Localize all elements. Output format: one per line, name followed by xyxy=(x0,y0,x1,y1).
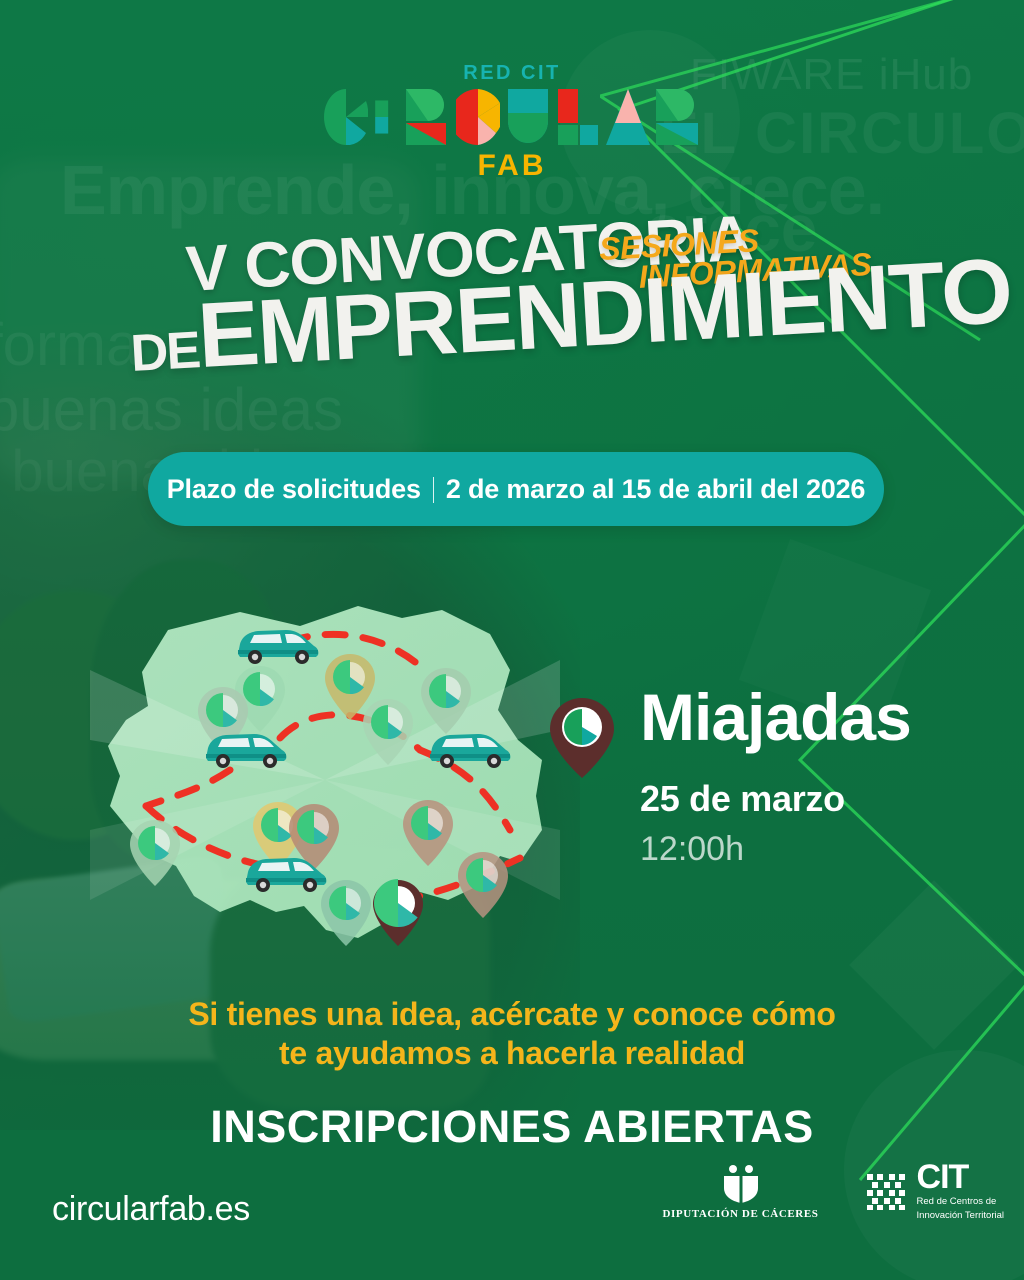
logo-red-cit: RED CIT xyxy=(312,62,712,85)
logo-letter-a xyxy=(606,89,650,145)
cta-highlight: INSCRIPCIONES ABIERTAS xyxy=(0,1101,1024,1153)
logo-letter-c-2 xyxy=(456,89,500,145)
map-car-icon xyxy=(238,852,330,894)
location-pin-icon xyxy=(548,696,616,780)
map-illustration xyxy=(90,600,560,960)
event-date: 25 de marzo xyxy=(640,778,845,820)
footer-logos: DIPUTACIÓN DE CÁCERES CIT Red de Centros… xyxy=(662,1162,1004,1221)
deadline-separator xyxy=(433,477,434,503)
diputacion-logo: DIPUTACIÓN DE CÁCERES xyxy=(662,1164,818,1220)
logo-letter-r xyxy=(406,89,450,145)
cit-text: CIT Red de Centros de Innovación Territo… xyxy=(917,1162,1004,1221)
logo-fab: FAB xyxy=(312,149,712,183)
map-pin xyxy=(127,818,183,888)
event-time: 12:00h xyxy=(640,830,744,869)
headline-de: DE xyxy=(129,321,200,383)
logo-wordmark-circular xyxy=(312,87,712,145)
cit-network-icon xyxy=(865,1172,909,1212)
map-pin xyxy=(360,697,416,767)
logo-letter-i xyxy=(374,89,400,145)
cta-line-1: Si tienes una idea, acércate y conoce có… xyxy=(0,995,1024,1034)
brand-logo: RED CIT xyxy=(312,62,712,183)
map-pin xyxy=(455,850,511,920)
event-city: Miajadas xyxy=(640,684,911,750)
cit-subtitle-2: Innovación Territorial xyxy=(917,1210,1004,1221)
diputacion-shield-icon xyxy=(718,1164,764,1204)
logo-letter-r-2 xyxy=(656,89,700,145)
map-car-icon xyxy=(230,624,322,666)
footer: circularfab.es DIPUTACIÓN DE CÁCERES xyxy=(0,1150,1024,1280)
cit-logo: CIT Red de Centros de Innovación Territo… xyxy=(865,1162,1004,1221)
cta-line-2: te ayudamos a hacerla realidad xyxy=(0,1034,1024,1073)
ghost-text-forma: forma xyxy=(0,310,139,379)
cit-abbr: CIT xyxy=(917,1162,1004,1193)
diputacion-label: DIPUTACIÓN DE CÁCERES xyxy=(662,1208,818,1220)
map-pin-active xyxy=(370,878,426,948)
poster-root: Emprende, innova, crece. forma buenas id… xyxy=(0,0,1024,1280)
map-pin xyxy=(418,666,474,736)
logo-letter-c-1 xyxy=(324,89,368,145)
map-car-icon xyxy=(198,728,290,770)
deadline-banner[interactable]: Plazo de solicitudes2 de marzo al 15 de … xyxy=(148,452,884,526)
logo-letter-l xyxy=(556,89,600,145)
map-car-icon xyxy=(422,728,514,770)
logo-letter-u xyxy=(506,89,550,145)
cta-block: Si tienes una idea, acércate y conoce có… xyxy=(0,995,1024,1153)
map-pin xyxy=(400,798,456,868)
deadline-value: 2 de marzo al 15 de abril del 2026 xyxy=(446,474,865,504)
cit-subtitle-1: Red de Centros de xyxy=(917,1196,1004,1207)
website-url[interactable]: circularfab.es xyxy=(52,1190,250,1229)
deadline-label: Plazo de solicitudes xyxy=(167,474,421,504)
deadline-text: Plazo de solicitudes2 de marzo al 15 de … xyxy=(167,474,866,505)
